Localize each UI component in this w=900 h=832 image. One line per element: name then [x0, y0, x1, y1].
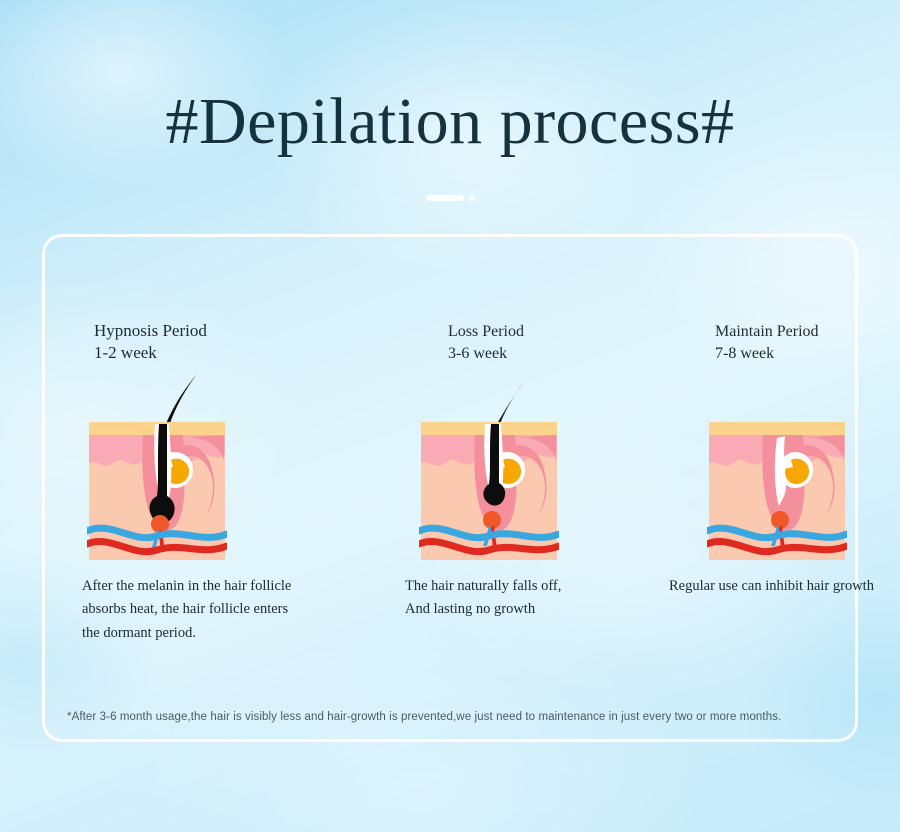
page-title: #Depilation process# — [0, 86, 900, 157]
steps-container: Hypnosis Period 1-2 week — [45, 237, 861, 745]
step-column-loss: Loss Period 3-6 week — [317, 237, 589, 745]
divider-dot — [469, 195, 475, 201]
step-title-loss: Loss Period — [448, 323, 524, 340]
title-container: #Depilation process# — [0, 86, 900, 157]
title-divider — [0, 195, 900, 201]
step-title-hypnosis: Hypnosis Period — [94, 321, 207, 340]
illustration-follicle-empty — [707, 368, 847, 569]
step-duration-loss: 3-6 week — [448, 343, 524, 364]
step-caption-maintain: Regular use can inhibit hair growth — [669, 575, 900, 598]
footnote-text: *After 3-6 month usage,the hair is visib… — [67, 709, 847, 725]
divider-bar — [426, 195, 464, 201]
page-background: #Depilation process# Hypnosis Period 1-2… — [0, 0, 900, 832]
step-duration-maintain: 7-8 week — [715, 343, 819, 364]
step-column-maintain: Maintain Period 7-8 week — [589, 237, 861, 745]
step-caption-hypnosis: After the melanin in the hair follicle a… — [82, 575, 312, 645]
process-card: Hypnosis Period 1-2 week — [42, 234, 858, 742]
illustration-hair-detached — [419, 368, 559, 569]
step-title-maintain: Maintain Period — [715, 323, 819, 340]
step-duration-hypnosis: 1-2 week — [94, 342, 207, 365]
step-column-hypnosis: Hypnosis Period 1-2 week — [45, 237, 317, 745]
illustration-hair-intact — [87, 368, 227, 569]
